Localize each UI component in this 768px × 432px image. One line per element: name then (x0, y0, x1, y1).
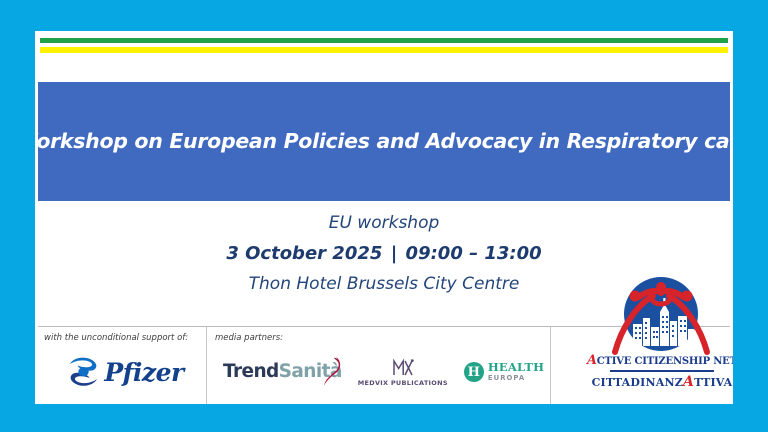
acn-line-cittadinanzattiva: CITTADINANZATTIVA (587, 375, 733, 390)
poster-frame: Workshop on European Policies and Advoca… (0, 0, 768, 432)
trendsanita-swoosh-icon (320, 356, 346, 386)
accent-bars (40, 38, 728, 53)
health-europa-logo: H HEALTH EUROPA (464, 362, 544, 382)
active-citizenship-network-logo: ACTIVE CITIZENSHIP NETWORK CITTADINANZAT… (587, 274, 733, 394)
medvix-monogram-icon (392, 358, 414, 377)
pfizer-wordmark: Pfizer (104, 360, 183, 385)
sponsor-cell: with the unconditional support of: Pfize… (38, 327, 206, 404)
page-title: Workshop on European Policies and Advoca… (35, 129, 733, 154)
event-datetime: 3 October 2025 | 09:00 – 13:00 (35, 243, 733, 264)
acn-line2-post: TTIVA (694, 376, 732, 389)
media-partner-logos: TrendSanità (215, 349, 550, 395)
acn-line2-drop: A (683, 374, 694, 390)
poster-card: Workshop on European Policies and Advoca… (35, 31, 733, 404)
pfizer-mark-icon (66, 355, 102, 389)
health-europa-badge-icon: H (464, 362, 484, 382)
accent-bar-yellow (40, 47, 728, 53)
health-europa-line2: EUROPA (488, 375, 544, 382)
event-subtitle: EU workshop (35, 213, 733, 233)
media-partners-cell: media partners: TrendSanità (207, 327, 550, 404)
acn-wordmark: ACTIVE CITIZENSHIP NETWORK CITTADINANZAT… (587, 354, 733, 390)
acn-line2-pre: CITTADINANZ (592, 376, 683, 389)
trendsanita-word-a: Trend (223, 361, 279, 382)
event-datetime-separator: | (389, 243, 400, 264)
medvix-wordmark: MEDVIX PUBLICATIONS (358, 379, 448, 387)
event-time: 09:00 – 13:00 (406, 243, 542, 264)
media-partners-label: media partners: (215, 333, 550, 343)
event-date: 3 October 2025 (226, 243, 382, 264)
pfizer-logo: Pfizer (44, 351, 206, 393)
health-europa-wordmark: HEALTH EUROPA (488, 362, 544, 381)
title-banner: Workshop on European Policies and Advoca… (38, 82, 730, 201)
sponsor-label: with the unconditional support of: (44, 333, 206, 343)
footer-divider-vertical-2 (550, 327, 551, 404)
acn-emblem-icon (609, 274, 713, 358)
medvix-publications-logo: MEDVIX PUBLICATIONS (358, 358, 448, 387)
acn-line1-rest: CTIVE CITIZENSHIP NETWORK (597, 356, 733, 367)
accent-bar-green (40, 38, 728, 43)
trendsanita-logo: TrendSanità (223, 363, 342, 382)
acn-line1-initial: A (587, 353, 597, 368)
health-europa-line1: HEALTH (488, 362, 544, 374)
acn-underline (610, 370, 714, 372)
acn-line-network: ACTIVE CITIZENSHIP NETWORK (587, 354, 733, 368)
